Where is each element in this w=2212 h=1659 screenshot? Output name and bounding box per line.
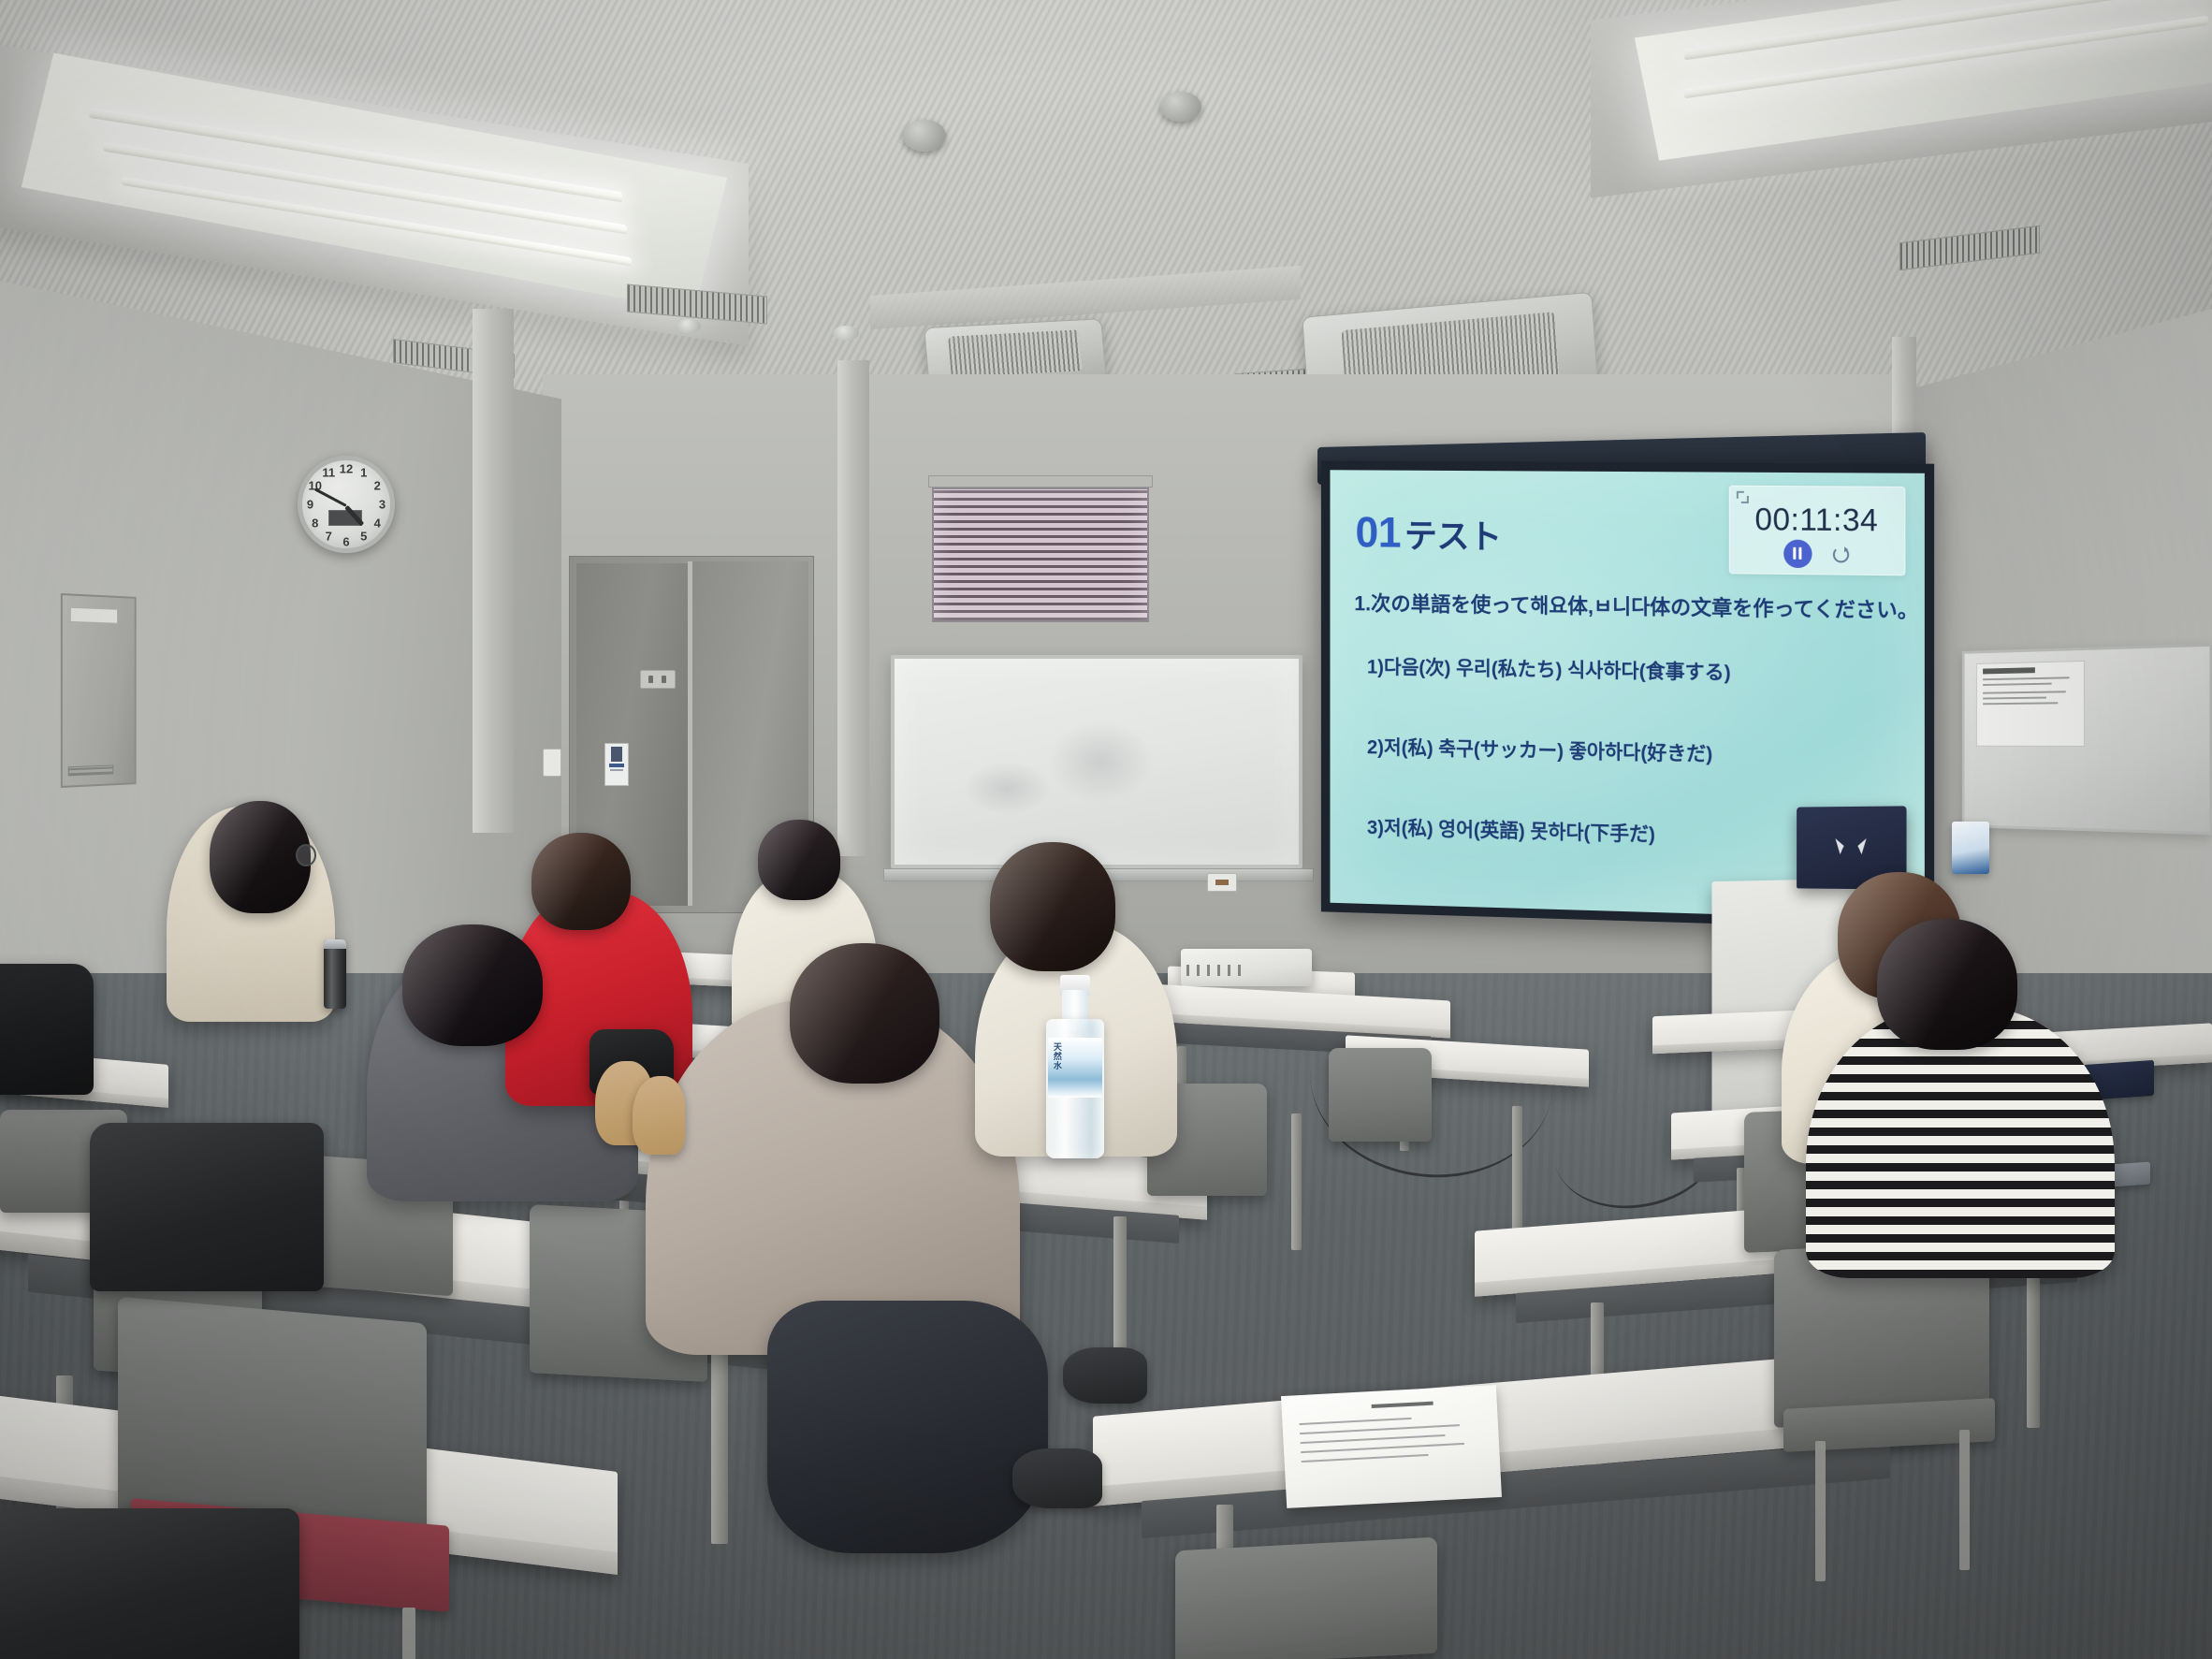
handout-line — [1302, 1454, 1429, 1463]
bottle-label-text: 天然水 — [1052, 1042, 1064, 1070]
sign-bar — [609, 764, 624, 767]
door-handle-plate[interactable] — [640, 670, 676, 689]
desk-leg — [1291, 1113, 1302, 1250]
water-bottle[interactable]: 天然水 — [1046, 975, 1104, 1158]
clock-hour-mark: 7 — [326, 530, 332, 544]
student-head — [758, 820, 840, 900]
pause-icon[interactable] — [1783, 540, 1812, 569]
chair-leg — [402, 1608, 415, 1659]
shoe — [633, 1076, 685, 1155]
handout-line — [1300, 1424, 1460, 1434]
chair-leg — [1815, 1441, 1826, 1581]
ceiling-speaker-icon — [903, 120, 946, 152]
test-handout[interactable] — [1281, 1385, 1502, 1508]
tumbler-cap — [324, 939, 346, 949]
panel-vent-slot — [68, 764, 113, 776]
notice-line — [1983, 677, 2070, 681]
desk-leg — [711, 1329, 728, 1544]
student-legs — [767, 1301, 1048, 1553]
door-card-reader[interactable] — [543, 749, 561, 777]
structural-column — [837, 360, 869, 856]
ceiling-speaker-icon — [1160, 92, 1201, 122]
handout-line — [1301, 1443, 1463, 1453]
reset-icon[interactable] — [1833, 546, 1849, 562]
notice-line — [1983, 697, 2046, 700]
notice-paper — [1976, 661, 2085, 746]
glasses-icon — [296, 844, 316, 866]
tissue-box — [1952, 822, 1989, 874]
bottle-label: 天然水 — [1048, 1038, 1101, 1099]
slide-title-text: テスト — [1404, 509, 1502, 558]
slide-item-1: 1)다음(次) 우리(私たち) 식사하다(食事する) — [1367, 652, 1731, 686]
slide-title-number: 01 — [1356, 507, 1401, 558]
clock-hour-mark: 9 — [307, 498, 313, 512]
chair-back[interactable] — [1329, 1048, 1432, 1142]
clock-hour-mark: 2 — [374, 479, 381, 493]
shoe — [1063, 1347, 1147, 1404]
student-head — [531, 833, 631, 930]
smoke-detector-icon — [833, 326, 859, 341]
door-handle-slot — [662, 676, 666, 683]
notice-board — [1962, 644, 2212, 836]
notice-line — [1983, 683, 2052, 686]
clock-hour-mark: 1 — [360, 465, 367, 479]
backpack — [0, 964, 94, 1095]
handout-title — [1371, 1402, 1433, 1408]
blind-headrail — [928, 475, 1153, 488]
clock-hour-mark: 8 — [312, 516, 318, 530]
notice-title-bar — [1983, 668, 2035, 675]
handout-line — [1301, 1434, 1446, 1444]
wall-outlet[interactable] — [1207, 873, 1237, 892]
whiteboard-smudge — [1048, 720, 1153, 803]
hair-highlight — [758, 820, 840, 900]
shoe — [1012, 1448, 1102, 1508]
clock-hour-mark: 6 — [342, 534, 349, 548]
coat-foreground — [0, 1508, 299, 1659]
notice-line — [1983, 691, 2066, 694]
sign-line — [610, 769, 623, 771]
door-safety-sign — [604, 743, 629, 786]
hair-highlight — [990, 842, 1115, 971]
panel-label — [70, 607, 118, 624]
clock-hour-mark: 4 — [374, 516, 381, 530]
hair-highlight — [402, 924, 543, 1046]
clock-hour-mark: 5 — [360, 530, 367, 544]
projector-ports — [1186, 965, 1246, 976]
wall-clock: 12 1 2 3 4 5 6 7 8 9 10 11 — [298, 456, 395, 553]
whiteboard-smudge — [963, 762, 1052, 815]
whiteboard — [891, 655, 1302, 868]
laptop-brand-logo-icon — [1835, 838, 1866, 857]
clock-hour-mark: 12 — [340, 461, 353, 475]
desk-leg — [1512, 1106, 1522, 1246]
structural-column — [473, 309, 514, 833]
service-access-panel — [61, 593, 137, 788]
window-blinds[interactable] — [932, 488, 1149, 622]
student-head — [402, 924, 543, 1046]
coat-on-chair — [90, 1123, 324, 1291]
student-head — [1877, 919, 2017, 1050]
handout-line — [1300, 1418, 1412, 1425]
clock-hour-mark: 11 — [322, 465, 335, 479]
slide-title: 01 テスト — [1356, 507, 1502, 559]
thermos-tumbler[interactable] — [324, 939, 346, 1009]
smoke-detector-icon — [677, 319, 701, 333]
clock-hour-mark: 3 — [379, 498, 386, 512]
slide-item-2: 2)저(私) 축구(サッカー) 좋아하다(好きだ) — [1367, 733, 1712, 768]
notice-line — [1983, 703, 2058, 706]
hair-highlight — [790, 943, 939, 1084]
door-mullion — [688, 561, 692, 906]
student-head — [990, 842, 1115, 971]
door-handle-slot — [648, 676, 653, 683]
timer-widget[interactable]: 00:11:34 — [1728, 486, 1905, 576]
timer-display: 00:11:34 — [1729, 502, 1904, 539]
student-head — [790, 943, 939, 1084]
sign-pictogram-icon — [611, 747, 622, 762]
slide-question: 1.次の単語を使って해요体,ㅂ니다体の文章を作ってください。 — [1354, 587, 1918, 624]
hair-highlight — [531, 833, 631, 930]
chair-leg — [1959, 1430, 1970, 1570]
projector — [1181, 949, 1312, 986]
chair-back[interactable] — [1175, 1537, 1437, 1659]
slide-item-3: 3)저(私) 영어(英語) 못하다(下手だ) — [1367, 813, 1655, 849]
hair-highlight — [1877, 919, 2017, 1050]
ac-grille — [949, 330, 1083, 378]
timer-controls — [1729, 539, 1904, 569]
student-5-legs — [767, 1301, 1048, 1553]
classroom-scene: 12 1 2 3 4 5 6 7 8 9 10 11 — [0, 0, 2212, 1659]
